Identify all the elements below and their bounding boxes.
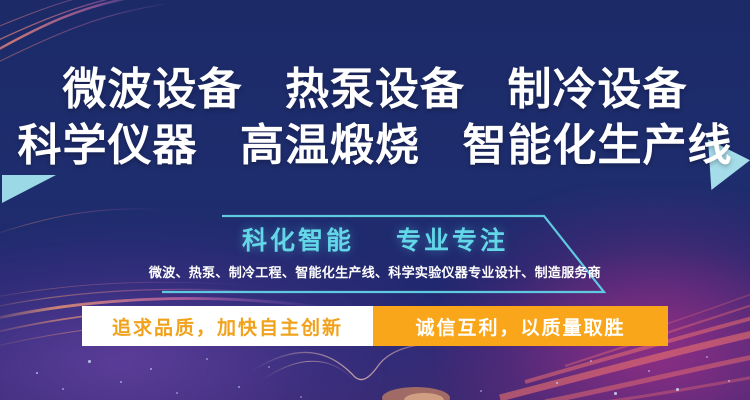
subtitle: 科化智能 专业专注 [0,225,750,257]
headline-term-3: 制冷设备 [507,65,687,114]
headline-term-4: 科学仪器 [18,121,198,170]
slogan-right: 诚信互利，以质量取胜 [373,306,668,346]
headline-term-6: 智能化生产线 [462,121,732,170]
subtitle-description: 微波、热泵、制冷工程、智能化生产线、科学实验仪器专业设计、制造服务商 [0,264,750,282]
slogan-left: 追求品质，加快自主创新 [82,306,373,346]
slogan-bars: 追求品质，加快自主创新 诚信互利，以质量取胜 [82,306,668,346]
headline-term-2: 热泵设备 [285,65,465,114]
headline-line-2: 科学仪器 高温煅烧 智能化生产线 [0,118,750,174]
subtitle-left: 科化智能 [242,227,354,255]
promo-banner: 微波设备 热泵设备 制冷设备 科学仪器 高温煅烧 智能化生产线 科化智能 专业专… [0,0,750,400]
headline: 微波设备 热泵设备 制冷设备 科学仪器 高温煅烧 智能化生产线 [0,62,750,174]
headline-line-1: 微波设备 热泵设备 制冷设备 [0,62,750,118]
triangle-arrow-left-icon [2,175,56,203]
headline-term-5: 高温煅烧 [240,121,420,170]
headline-term-1: 微波设备 [63,65,243,114]
subtitle-right: 专业专注 [396,227,508,255]
